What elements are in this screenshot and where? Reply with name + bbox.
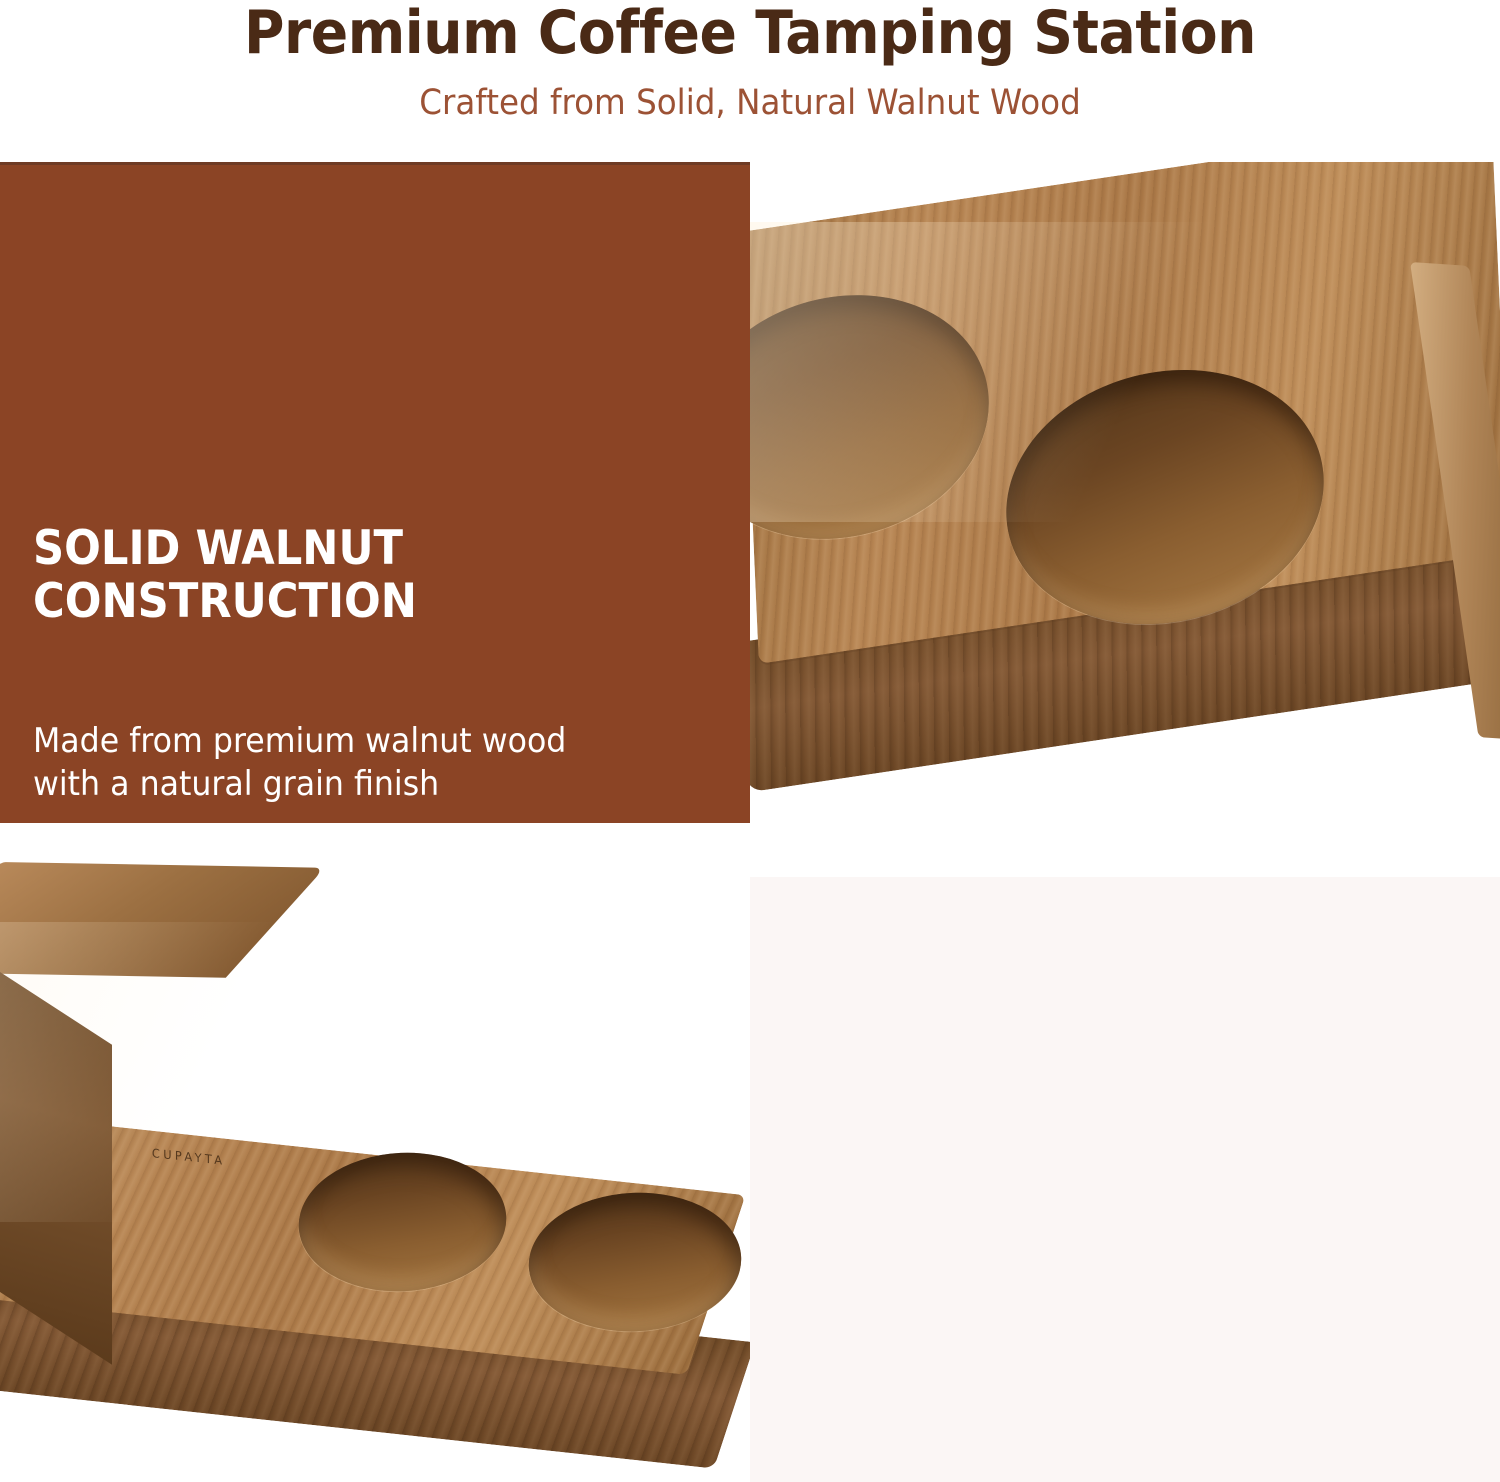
feature-heading-solid-walnut: SOLID WALNUTCONSTRUCTION bbox=[33, 522, 714, 628]
product-photo-full-station: CUPAYTA bbox=[0, 862, 750, 1482]
feature-panel-raised-platform: RAISEDPORTAFILTERPLATFORM Stable flat ba… bbox=[750, 877, 1500, 1482]
page-subtitle: Crafted from Solid, Natural Walnut Wood bbox=[53, 82, 1448, 124]
wood-tray-illustration bbox=[750, 162, 1500, 862]
feature-panel-solid-walnut: SOLID WALNUTCONSTRUCTION Made from premi… bbox=[0, 162, 750, 823]
product-photo-tray-closeup bbox=[750, 162, 1500, 862]
header: Premium Coffee Tamping Station Crafted f… bbox=[0, 0, 1500, 162]
platform-top-face bbox=[0, 862, 325, 978]
wood-station-illustration: CUPAYTA bbox=[0, 862, 750, 1482]
feature-body-solid-walnut: Made from premium walnut woodwith a natu… bbox=[33, 720, 740, 806]
page-title: Premium Coffee Tamping Station bbox=[60, 2, 1440, 65]
platform-front-face bbox=[0, 1292, 250, 1482]
infographic-page: Premium Coffee Tamping Station Crafted f… bbox=[0, 0, 1500, 1482]
